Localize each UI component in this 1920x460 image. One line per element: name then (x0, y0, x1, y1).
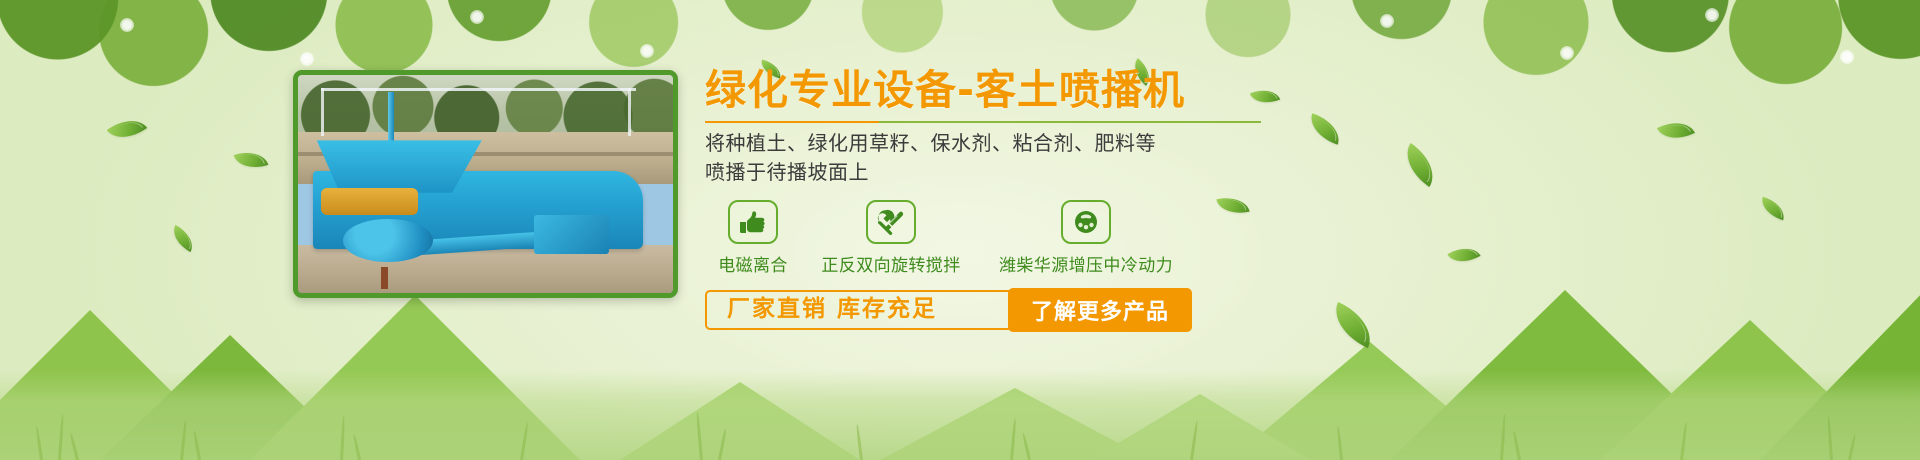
feature-item-weichai-power: 潍柴华源增压中冷动力 (981, 200, 1191, 276)
banner-title: 绿化专业设备-客土喷播机 (705, 66, 1305, 114)
cta-slogan-text: 厂家直销 库存充足 (727, 290, 937, 330)
feature-item-electromagnetic-clutch: 电磁离合 (705, 200, 801, 276)
feature-label: 电磁离合 (718, 251, 788, 276)
product-photo-image (298, 75, 673, 293)
divider-orange-segment (705, 121, 879, 123)
feature-icon-frame (866, 200, 916, 244)
subtitle-line-2: 喷播于待播坡面上 (705, 158, 1305, 186)
thumbs-up-icon (738, 209, 768, 235)
feature-label: 正反双向旋转搅拌 (821, 251, 960, 276)
feature-label: 潍柴华源增压中冷动力 (999, 251, 1173, 276)
banner-content: 绿化专业设备-客土喷播机 将种植土、绿化用草籽、保水剂、粘合剂、肥料等 喷播于待… (705, 66, 1305, 330)
promo-banner: 绿化专业设备-客土喷播机 将种植土、绿化用草籽、保水剂、粘合剂、肥料等 喷播于待… (0, 0, 1920, 460)
feature-item-bidirectional-mixing: 正反双向旋转搅拌 (801, 200, 981, 276)
subtitle-line-1: 将种植土、绿化用草籽、保水剂、粘合剂、肥料等 (705, 129, 1305, 157)
grass-blades-decoration (0, 390, 1920, 460)
feature-icon-frame (728, 200, 778, 244)
wrench-screwdriver-icon (876, 208, 906, 236)
learn-more-button[interactable]: 了解更多产品 (1008, 288, 1192, 332)
learn-more-button-label: 了解更多产品 (1031, 294, 1169, 326)
cta-row: 厂家直销 库存充足 了解更多产品 (705, 290, 1190, 330)
turbo-engine-icon (1070, 208, 1102, 236)
product-photo[interactable] (293, 70, 678, 298)
divider-green-segment (879, 121, 1261, 123)
banner-subtitle: 将种植土、绿化用草籽、保水剂、粘合剂、肥料等 喷播于待播坡面上 (705, 129, 1305, 186)
feature-icon-frame (1061, 200, 1111, 244)
feature-list: 电磁离合 正反双向旋转搅拌 (705, 200, 1305, 276)
title-divider (705, 121, 1261, 123)
